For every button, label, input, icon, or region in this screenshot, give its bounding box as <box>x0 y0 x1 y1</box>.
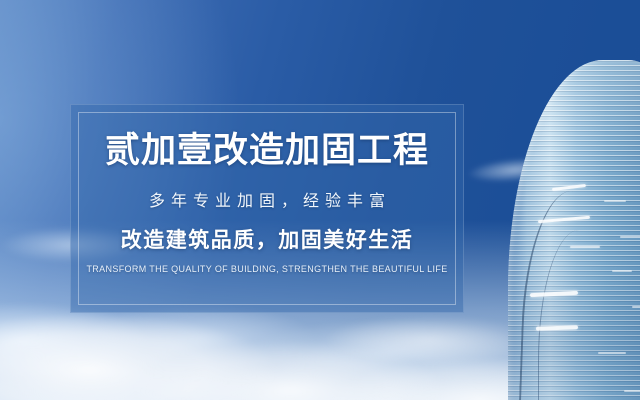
tower-highlight-5 <box>570 246 600 248</box>
banner-tagline: 改造建筑品质，加固美好生活 <box>121 224 414 254</box>
tower-window-reflection-5 <box>598 352 626 354</box>
tower-window-reflection-2 <box>620 236 640 238</box>
text-panel: 贰加壹改造加固工程 多年专业加固，经验丰富 改造建筑品质，加固美好生活 TRAN… <box>70 104 464 313</box>
hero-banner: 贰加壹改造加固工程 多年专业加固，经验丰富 改造建筑品质，加固美好生活 TRAN… <box>0 0 640 400</box>
page-title: 贰加壹改造加固工程 <box>105 132 429 170</box>
banner-subtitle: 多年专业加固，经验丰富 <box>143 187 391 211</box>
banner-english-tagline: TRANSFORM THE QUALITY OF BUILDING, STREN… <box>86 264 447 274</box>
skyscraper <box>490 0 640 400</box>
tower-window-reflection-4 <box>632 306 640 308</box>
tower-window-reflection-1 <box>604 200 626 202</box>
tower-window-reflection-3 <box>612 270 632 272</box>
tower-body <box>508 60 640 400</box>
tower-window-reflection-6 <box>624 390 640 392</box>
panel-content: 贰加壹改造加固工程 多年专业加固，经验丰富 改造建筑品质，加固美好生活 TRAN… <box>70 104 464 313</box>
